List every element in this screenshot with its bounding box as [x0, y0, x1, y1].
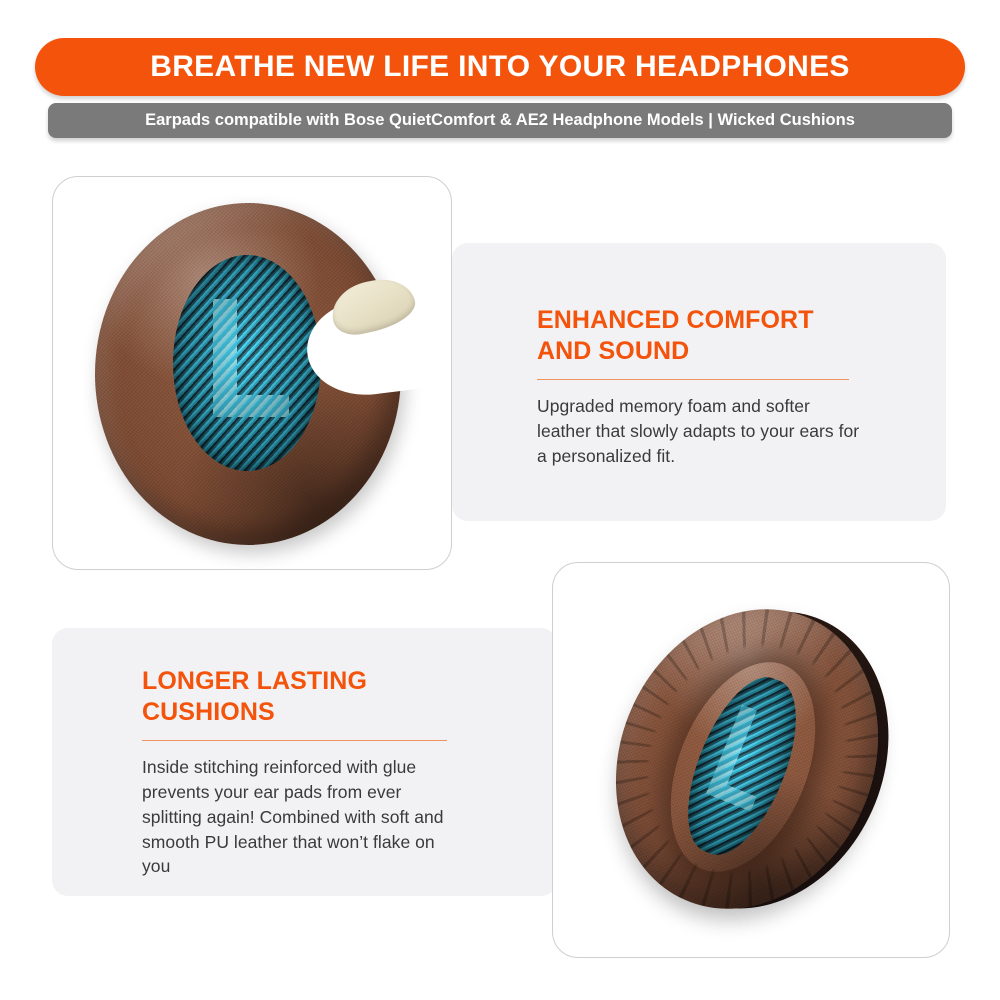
- banner-title: BREATHE NEW LIFE INTO YOUR HEADPHONES: [150, 52, 850, 82]
- feature-body-longer-lasting: Inside stitching reinforced with glue pr…: [142, 755, 462, 879]
- compatibility-subtitle-text: Earpads compatible with Bose QuietComfor…: [145, 112, 855, 129]
- feature-panel-content: LONGER LASTING CUSHIONS Inside stitching…: [142, 666, 462, 879]
- product-image-angled-view: [553, 563, 949, 957]
- header-banner: BREATHE NEW LIFE INTO YOUR HEADPHONES: [35, 38, 965, 96]
- feature-panel-content: ENHANCED COMFORT AND SOUND Upgraded memo…: [537, 305, 867, 469]
- product-image-card-front: [52, 176, 452, 570]
- feature-body-enhanced-comfort: Upgraded memory foam and softer leather …: [537, 394, 867, 469]
- earpad-angled-illustration: [581, 583, 921, 935]
- feature-divider: [537, 379, 849, 380]
- feature-panel-enhanced-comfort: ENHANCED COMFORT AND SOUND Upgraded memo…: [452, 243, 946, 521]
- feature-panel-longer-lasting: LONGER LASTING CUSHIONS Inside stitching…: [52, 628, 557, 896]
- product-image-card-angled: [552, 562, 950, 958]
- feature-heading-longer-lasting: LONGER LASTING CUSHIONS: [142, 666, 462, 727]
- earpad-mesh-center: [173, 255, 321, 471]
- compatibility-subtitle-bar: Earpads compatible with Bose QuietComfor…: [48, 103, 952, 138]
- product-image-front-view: [53, 177, 451, 569]
- mesh-shading: [173, 255, 321, 471]
- feature-heading-enhanced-comfort: ENHANCED COMFORT AND SOUND: [537, 305, 867, 366]
- earpad-front-illustration: [87, 195, 417, 553]
- feature-divider: [142, 740, 447, 741]
- product-infographic: BREATHE NEW LIFE INTO YOUR HEADPHONES Ea…: [0, 0, 1000, 1000]
